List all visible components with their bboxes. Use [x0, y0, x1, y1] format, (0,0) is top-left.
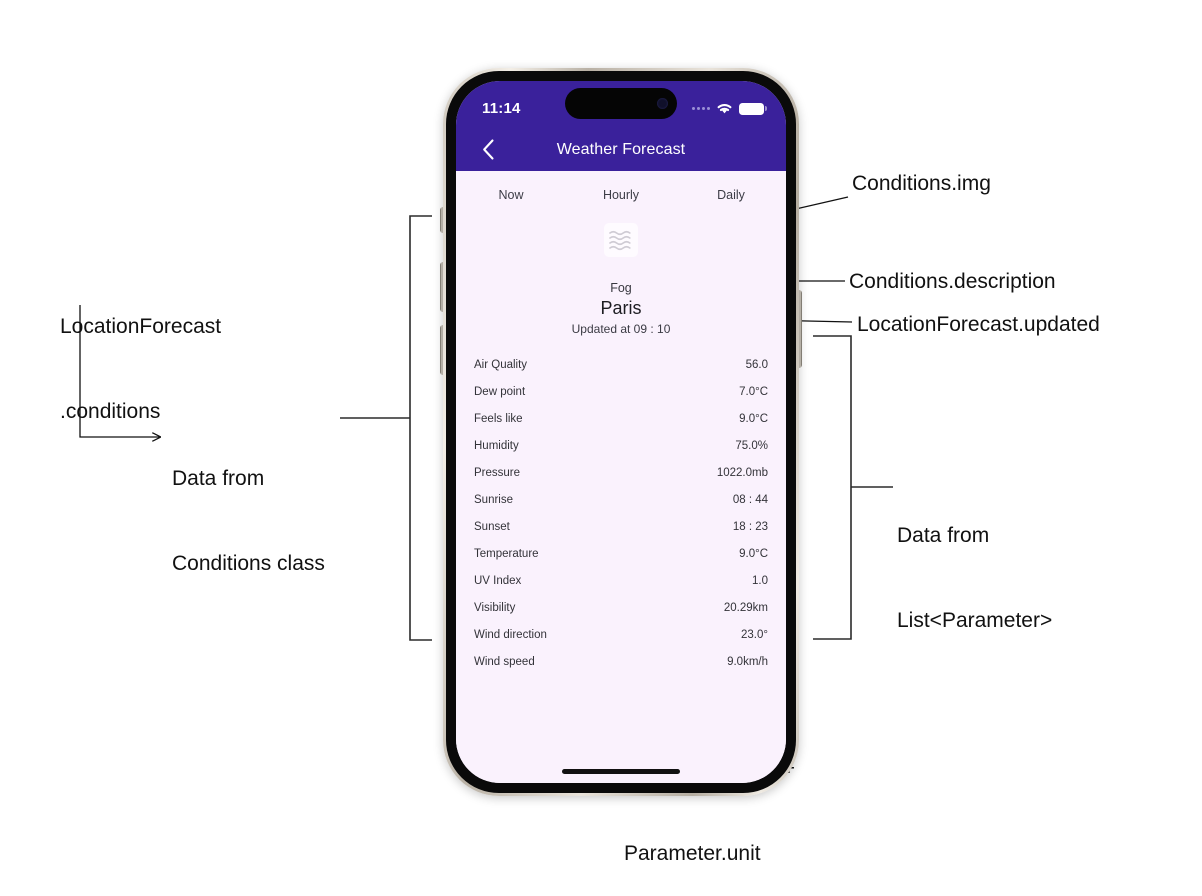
annotation-location-forecast-updated: LocationForecast.updated	[857, 311, 1100, 339]
parameter-name: Feels like	[474, 413, 523, 425]
table-row: Sunset 18 : 23	[474, 513, 768, 540]
table-row: Pressure 1022.0mb	[474, 459, 768, 486]
table-row: Sunrise 08 : 44	[474, 486, 768, 513]
annotation-data-from-conditions: Data from Conditions class	[172, 408, 325, 606]
wifi-icon	[716, 102, 733, 115]
phone-screen: 11:14 W	[456, 81, 786, 783]
left-bracket	[340, 216, 432, 640]
annotation-line: LocationForecast	[60, 313, 221, 341]
parameter-value: 9.0km/h	[727, 656, 768, 668]
parameter-name: UV Index	[474, 575, 521, 587]
parameter-name: Wind direction	[474, 629, 547, 641]
home-indicator[interactable]	[562, 769, 680, 774]
table-row: Temperature 9.0°C	[474, 540, 768, 567]
annotation-conditions-description: Conditions.description	[849, 268, 1056, 296]
annotation-line: Conditions class	[172, 550, 325, 578]
phone-frame: 11:14 W	[443, 68, 799, 796]
back-button[interactable]	[474, 136, 502, 164]
parameter-value: 9.0°C	[739, 548, 768, 560]
table-row: Wind speed 9.0km/h	[474, 648, 768, 675]
annotation-line: Data from	[172, 465, 325, 493]
tab-daily[interactable]: Daily	[676, 188, 786, 202]
table-row: Feels like 9.0°C	[474, 405, 768, 432]
parameter-name: Sunset	[474, 521, 510, 533]
parameter-list: Air Quality 56.0 Dew point 7.0°C Feels l…	[456, 351, 786, 675]
annotation-line: Data from	[897, 522, 1052, 550]
parameter-value: 1.0	[752, 575, 768, 587]
table-row: Dew point 7.0°C	[474, 378, 768, 405]
parameter-name: Sunrise	[474, 494, 513, 506]
dynamic-island	[565, 88, 677, 119]
page-title: Weather Forecast	[456, 141, 786, 159]
parameter-value: 7.0°C	[739, 386, 768, 398]
phone-bezel: 11:14 W	[446, 71, 796, 793]
tab-hourly[interactable]: Hourly	[566, 188, 676, 202]
parameter-name: Pressure	[474, 467, 520, 479]
table-row: Visibility 20.29km	[474, 594, 768, 621]
content-area: Now Hourly Daily Fog	[456, 171, 786, 783]
updated-timestamp: Updated at 09 : 10	[456, 322, 786, 336]
parameter-name: Temperature	[474, 548, 539, 560]
parameter-name: Wind speed	[474, 656, 535, 668]
annotation-data-from-list: Data from List<Parameter>	[897, 465, 1052, 663]
parameter-value: 20.29km	[724, 602, 768, 614]
parameter-name: Air Quality	[474, 359, 527, 371]
parameter-name: Humidity	[474, 440, 519, 452]
parameter-value: 18 : 23	[733, 521, 768, 533]
parameter-name: Dew point	[474, 386, 525, 398]
table-row: Air Quality 56.0	[474, 351, 768, 378]
table-row: UV Index 1.0	[474, 567, 768, 594]
front-camera-icon	[657, 98, 668, 109]
parameter-value: 1022.0mb	[717, 467, 768, 479]
parameter-value: 75.0%	[735, 440, 768, 452]
parameter-value: 23.0°	[741, 629, 768, 641]
annotation-line: List<Parameter>	[897, 607, 1052, 635]
parameter-name: Visibility	[474, 602, 515, 614]
tab-now[interactable]: Now	[456, 188, 566, 202]
parameter-value: 9.0°C	[739, 413, 768, 425]
right-bracket	[813, 336, 893, 639]
status-bar: 11:14	[456, 81, 786, 128]
table-row: Wind direction 23.0°	[474, 621, 768, 648]
conditions-block: Fog Paris Updated at 09 : 10	[456, 207, 786, 336]
nav-bar: Weather Forecast	[456, 128, 786, 171]
parameter-value: 56.0	[746, 359, 768, 371]
location-name: Paris	[456, 298, 786, 319]
chevron-left-icon	[482, 139, 495, 160]
conditions-description: Fog	[456, 281, 786, 295]
table-row: Humidity 75.0%	[474, 432, 768, 459]
annotation-conditions-img: Conditions.img	[852, 170, 991, 198]
fog-icon	[604, 223, 638, 257]
parameter-value: 08 : 44	[733, 494, 768, 506]
status-time: 11:14	[482, 100, 521, 117]
tab-bar: Now Hourly Daily	[456, 171, 786, 207]
battery-icon	[739, 103, 764, 115]
status-indicators	[692, 102, 764, 115]
annotation-line: Parameter.unit	[624, 840, 795, 868]
signal-dots-icon	[692, 107, 710, 110]
